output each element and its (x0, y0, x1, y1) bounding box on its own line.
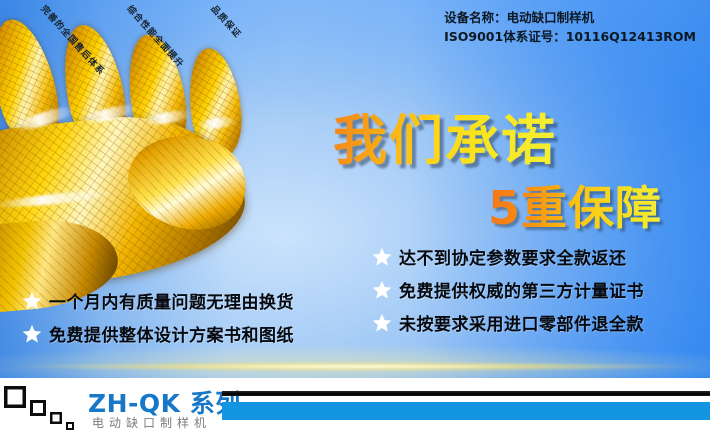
footer-black-bar (222, 391, 710, 396)
light-streak (8, 362, 702, 371)
promise-text: 未按要求采用进口零部件退全款 (399, 310, 644, 335)
promise-item: 未按要求采用进口零部件退全款 (372, 310, 644, 335)
iso-certificate-line: ISO9001体系证号：10116Q12413ROM (444, 27, 696, 46)
promo-poster: 完善的全国售后体系 综合性能全面提升 品质保证 设备名称：电动缺口制样机 ISO… (0, 0, 710, 440)
promise-item: 达不到协定参数要求全款返还 (372, 244, 644, 269)
promise-list-right: 达不到协定参数要求全款返还 免费提供权威的第三方计量证书 未按要求采用进口零部件… (372, 244, 644, 343)
product-model-subtitle: 电动缺口制样机 (92, 414, 211, 431)
star-icon (22, 324, 42, 344)
promise-text: 一个月内有质量问题无理由换货 (49, 288, 294, 313)
promise-text: 免费提供权威的第三方计量证书 (399, 277, 644, 302)
light-streak-glow (0, 344, 710, 378)
decorative-square-1 (4, 386, 26, 408)
decorative-square-3 (50, 412, 62, 424)
equipment-name-line: 设备名称：电动缺口制样机 (444, 8, 696, 27)
promise-item: 免费提供整体设计方案书和图纸 (22, 321, 294, 346)
decorative-square-2 (30, 400, 46, 416)
footer-blue-bar (222, 402, 710, 420)
star-icon (22, 291, 42, 311)
promise-item: 一个月内有质量问题无理由换货 (22, 288, 294, 313)
promise-text: 达不到协定参数要求全款返还 (399, 244, 627, 269)
poster-background: 完善的全国售后体系 综合性能全面提升 品质保证 设备名称：电动缺口制样机 ISO… (0, 0, 710, 378)
star-icon (372, 313, 392, 333)
star-icon (372, 247, 392, 267)
headline-we-promise: 我们承诺 (333, 96, 557, 175)
promise-item: 免费提供权威的第三方计量证书 (372, 277, 644, 302)
poster-footer: ZH-QK 系列 电动缺口制样机 (0, 378, 710, 440)
star-icon (372, 280, 392, 300)
equipment-info-block: 设备名称：电动缺口制样机 ISO9001体系证号：10116Q12413ROM (444, 8, 696, 46)
golden-robot-hand-graphic (0, 8, 278, 308)
decorative-square-4 (66, 422, 74, 430)
headline-five-guarantees: 5重保障 (488, 172, 662, 238)
promise-text: 免费提供整体设计方案书和图纸 (49, 321, 294, 346)
